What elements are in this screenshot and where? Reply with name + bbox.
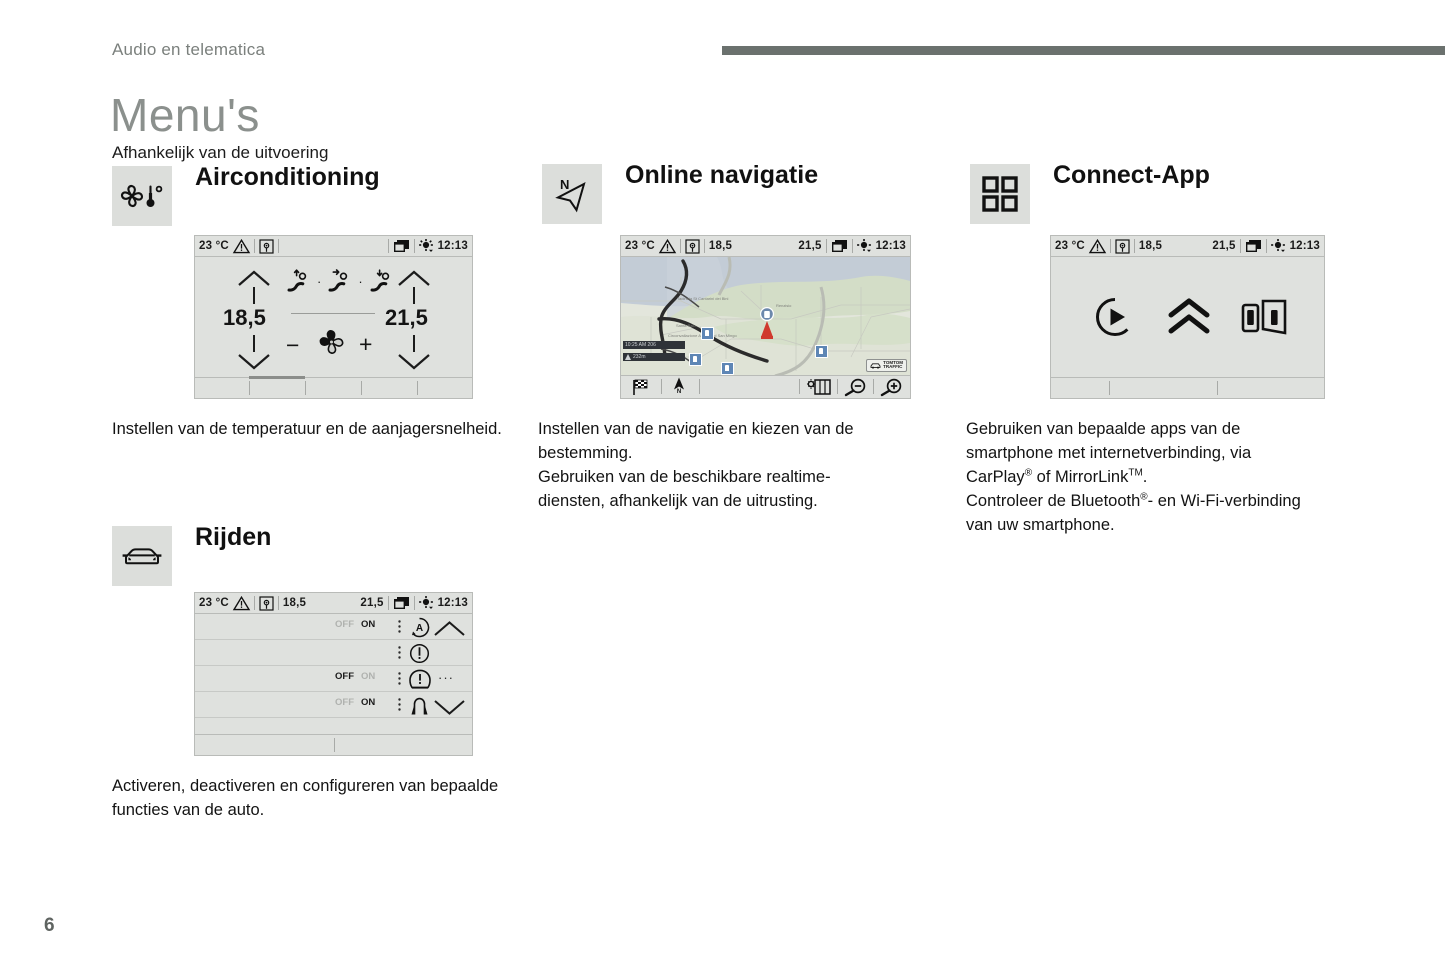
separator-dot: · bbox=[317, 275, 321, 288]
row-menu-dots[interactable] bbox=[398, 646, 401, 660]
scroll-down-button[interactable] bbox=[433, 699, 466, 716]
page-title: Menu's bbox=[110, 92, 260, 138]
caption-airconditioning: Instellen van de temperatuur en de aanja… bbox=[112, 418, 512, 442]
zoom-in-icon[interactable] bbox=[879, 378, 904, 396]
play-circle-icon[interactable] bbox=[1095, 297, 1135, 337]
warning-triangle-icon bbox=[233, 596, 250, 611]
drive-row[interactable]: OFF ON A bbox=[195, 614, 472, 640]
map-options-icon[interactable] bbox=[807, 378, 832, 396]
radar-target-icon bbox=[259, 596, 274, 611]
left-temperature-value: 18,5 bbox=[223, 305, 266, 331]
car-front-icon bbox=[112, 526, 172, 586]
drive-row[interactable]: OFF ON bbox=[195, 692, 472, 718]
caption-line: Gebruiken van bepaalde apps van de bbox=[966, 418, 1376, 442]
caption-rijden: Activeren, deactiveren en configureren v… bbox=[112, 775, 512, 823]
radar-target-icon bbox=[259, 239, 274, 254]
toggle-on-label[interactable]: ON bbox=[361, 619, 375, 633]
toggle-off-label[interactable]: OFF bbox=[335, 697, 354, 711]
poi-marker[interactable] bbox=[721, 362, 734, 375]
warning-info-icon[interactable] bbox=[409, 643, 430, 664]
distance-info-box: 232m bbox=[623, 353, 685, 361]
caption-online-navigatie: Instellen van de navigatie en kiezen van… bbox=[538, 418, 938, 514]
status-temperature: 23 °C bbox=[199, 597, 229, 609]
svg-text:N: N bbox=[560, 177, 569, 192]
tomtom-service: TRAFFIC bbox=[883, 365, 903, 370]
caption-line: Instellen van de navigatie en kiezen van… bbox=[538, 418, 938, 442]
nav-toolbar: N bbox=[621, 375, 910, 398]
settings-sun-icon bbox=[419, 239, 434, 253]
status-temperature: 23 °C bbox=[625, 240, 655, 252]
settings-sun-icon bbox=[857, 239, 872, 253]
status-clock: 12:13 bbox=[438, 240, 468, 252]
separator-dot: · bbox=[358, 275, 362, 288]
windows-stack-icon bbox=[393, 596, 410, 610]
divider bbox=[291, 313, 375, 314]
section-title-connect-app: Connect-App bbox=[1053, 161, 1210, 190]
nav-status-bar: 23 °C 18,5 21,5 12:13 bbox=[621, 236, 910, 257]
windows-stack-icon bbox=[831, 239, 848, 253]
left-temp-down-button[interactable] bbox=[237, 353, 271, 371]
map-label: Tadinota St Cantarini dei Bini bbox=[677, 296, 728, 301]
phone-mirror-icon[interactable] bbox=[1241, 299, 1287, 335]
app-grid-icon bbox=[970, 164, 1030, 224]
ac-status-bar: 23 °C 12:13 bbox=[195, 236, 472, 257]
map-view[interactable]: Tadinota St Cantarini dei Bini Renzisio … bbox=[621, 257, 910, 376]
connect-footer-bar bbox=[1051, 377, 1324, 398]
poi-marker[interactable] bbox=[815, 345, 828, 358]
caption-line: bestemming. bbox=[538, 442, 938, 466]
connect-screen[interactable]: 23 °C 18,5 21,5 12:13 bbox=[1050, 235, 1325, 399]
stop-start-icon[interactable]: A bbox=[409, 617, 430, 638]
seat-airflow-down-icon[interactable] bbox=[369, 269, 394, 293]
status-temp-left: 18,5 bbox=[709, 240, 732, 252]
status-temp-left: 18,5 bbox=[1139, 240, 1162, 252]
page-number: 6 bbox=[44, 915, 55, 937]
settings-sun-icon bbox=[1271, 239, 1286, 253]
status-temp-right: 21,5 bbox=[798, 240, 821, 252]
double-chevron-up-icon[interactable] bbox=[1168, 299, 1210, 335]
ac-screen[interactable]: 23 °C 12:13 1 bbox=[194, 235, 473, 399]
map-label: Santa Palo bbox=[676, 323, 696, 328]
seat-airflow-face-icon[interactable] bbox=[327, 269, 352, 293]
toggle-on-label[interactable]: ON bbox=[361, 671, 375, 685]
caption-line: CarPlay® of MirrorLinkTM. bbox=[966, 466, 1376, 490]
toggle-off-label[interactable]: OFF bbox=[335, 619, 354, 633]
toggle-lane-assist[interactable]: OFF ON bbox=[335, 697, 375, 711]
left-temp-tick-bottom bbox=[253, 335, 255, 352]
warning-triangle-icon bbox=[1089, 239, 1106, 254]
warning-triangle-icon bbox=[659, 239, 676, 254]
status-clock: 12:13 bbox=[1290, 240, 1320, 252]
compass-north-arrow-icon: N bbox=[542, 164, 602, 224]
caption-connect-app: Gebruiken van bepaalde apps van de smart… bbox=[966, 418, 1376, 538]
warning-triangle-icon bbox=[233, 239, 250, 254]
ac-footer-bar bbox=[195, 377, 472, 398]
drive-footer-bar bbox=[195, 734, 472, 755]
right-temp-tick-top bbox=[413, 287, 415, 304]
active-tab-indicator bbox=[249, 376, 305, 379]
distance-value: 232m bbox=[633, 354, 646, 360]
north-label: N bbox=[671, 389, 687, 395]
drive-screen[interactable]: 23 °C 18,5 21,5 12:13 bbox=[194, 592, 473, 756]
fan-decrease-button[interactable]: − bbox=[286, 334, 299, 357]
left-temp-up-button[interactable] bbox=[237, 269, 271, 287]
poi-marker[interactable] bbox=[689, 353, 702, 366]
status-temperature: 23 °C bbox=[1055, 240, 1085, 252]
status-temp-left: 18,5 bbox=[283, 597, 306, 609]
nav-screen[interactable]: 23 °C 18,5 21,5 12:13 bbox=[620, 235, 911, 399]
status-clock: 12:13 bbox=[876, 240, 906, 252]
toggle-off-label[interactable]: OFF bbox=[335, 671, 354, 685]
toggle-on-label[interactable]: ON bbox=[361, 697, 375, 711]
radar-target-icon bbox=[1115, 239, 1130, 254]
status-temperature: 23 °C bbox=[199, 240, 229, 252]
status-temp-right: 21,5 bbox=[1212, 240, 1235, 252]
eta-info-box: 10:25 AM 206 bbox=[623, 341, 685, 349]
header-rule bbox=[722, 46, 1445, 55]
drive-status-bar: 23 °C 18,5 21,5 12:13 bbox=[195, 593, 472, 614]
row-menu-dots[interactable] bbox=[398, 620, 401, 634]
connect-status-bar: 23 °C 18,5 21,5 12:13 bbox=[1051, 236, 1324, 257]
airflow-distribution-group: · · bbox=[286, 269, 394, 293]
fan-thermometer-icon bbox=[112, 166, 172, 226]
map-label: Renzisio bbox=[776, 303, 791, 308]
section-title-rijden: Rijden bbox=[195, 523, 271, 552]
running-head: Audio en telematica bbox=[112, 40, 265, 60]
row-menu-dots[interactable] bbox=[398, 672, 401, 686]
windows-stack-icon bbox=[1245, 239, 1262, 253]
right-temperature-value: 21,5 bbox=[385, 305, 428, 331]
right-temp-down-button[interactable] bbox=[397, 353, 431, 371]
drive-row[interactable]: OFF ON bbox=[195, 666, 472, 692]
destination-flag-icon[interactable] bbox=[631, 378, 649, 396]
tyre-pressure-icon[interactable] bbox=[409, 669, 431, 690]
caption-line: Controleer de Bluetooth®- en Wi-Fi-verbi… bbox=[966, 490, 1376, 514]
status-clock: 12:13 bbox=[438, 597, 468, 609]
section-title-online-navigatie: Online navigatie bbox=[625, 161, 818, 190]
caption-line: Gebruiken van de beschikbare realtime- bbox=[538, 466, 938, 490]
section-title-airconditioning: Airconditioning bbox=[195, 163, 380, 192]
traffic-car-icon bbox=[870, 362, 881, 369]
more-options-indicator[interactable]: ··· bbox=[438, 670, 454, 685]
page-subtitle: Afhankelijk van de uitvoering bbox=[112, 143, 328, 163]
poi-marker[interactable] bbox=[701, 327, 714, 340]
seat-airflow-up-icon[interactable] bbox=[286, 269, 311, 293]
lane-assist-icon[interactable] bbox=[409, 695, 430, 716]
radar-target-icon bbox=[685, 239, 700, 254]
zoom-out-icon[interactable] bbox=[843, 378, 868, 396]
scroll-up-button[interactable] bbox=[433, 620, 466, 637]
caption-line: smartphone met internetverbinding, via bbox=[966, 442, 1376, 466]
fan-increase-button[interactable]: + bbox=[359, 333, 372, 356]
windows-stack-icon bbox=[393, 239, 410, 253]
tomtom-traffic-badge: TOMTOM TRAFFIC bbox=[866, 359, 907, 372]
drive-row[interactable] bbox=[195, 640, 472, 666]
right-temp-tick-bottom bbox=[413, 335, 415, 352]
svg-text:A: A bbox=[416, 623, 423, 634]
toggle-stop-start[interactable]: OFF ON bbox=[335, 619, 375, 633]
right-temp-up-button[interactable] bbox=[397, 269, 431, 287]
distance-icon bbox=[625, 354, 631, 360]
settings-sun-icon bbox=[419, 596, 434, 610]
toggle-tyre-pressure[interactable]: OFF ON bbox=[335, 671, 375, 685]
manual-page: Audio en telematica Menu's Afhankelijk v… bbox=[0, 0, 1445, 963]
left-temp-tick-top bbox=[253, 287, 255, 304]
caption-line: van uw smartphone. bbox=[966, 514, 1376, 538]
fan-icon[interactable] bbox=[312, 327, 352, 357]
north-compass-icon[interactable]: N bbox=[671, 377, 687, 395]
caption-line: diensten, afhankelijk van de uitrusting. bbox=[538, 490, 938, 514]
row-menu-dots[interactable] bbox=[398, 698, 401, 712]
status-temp-right: 21,5 bbox=[360, 597, 383, 609]
